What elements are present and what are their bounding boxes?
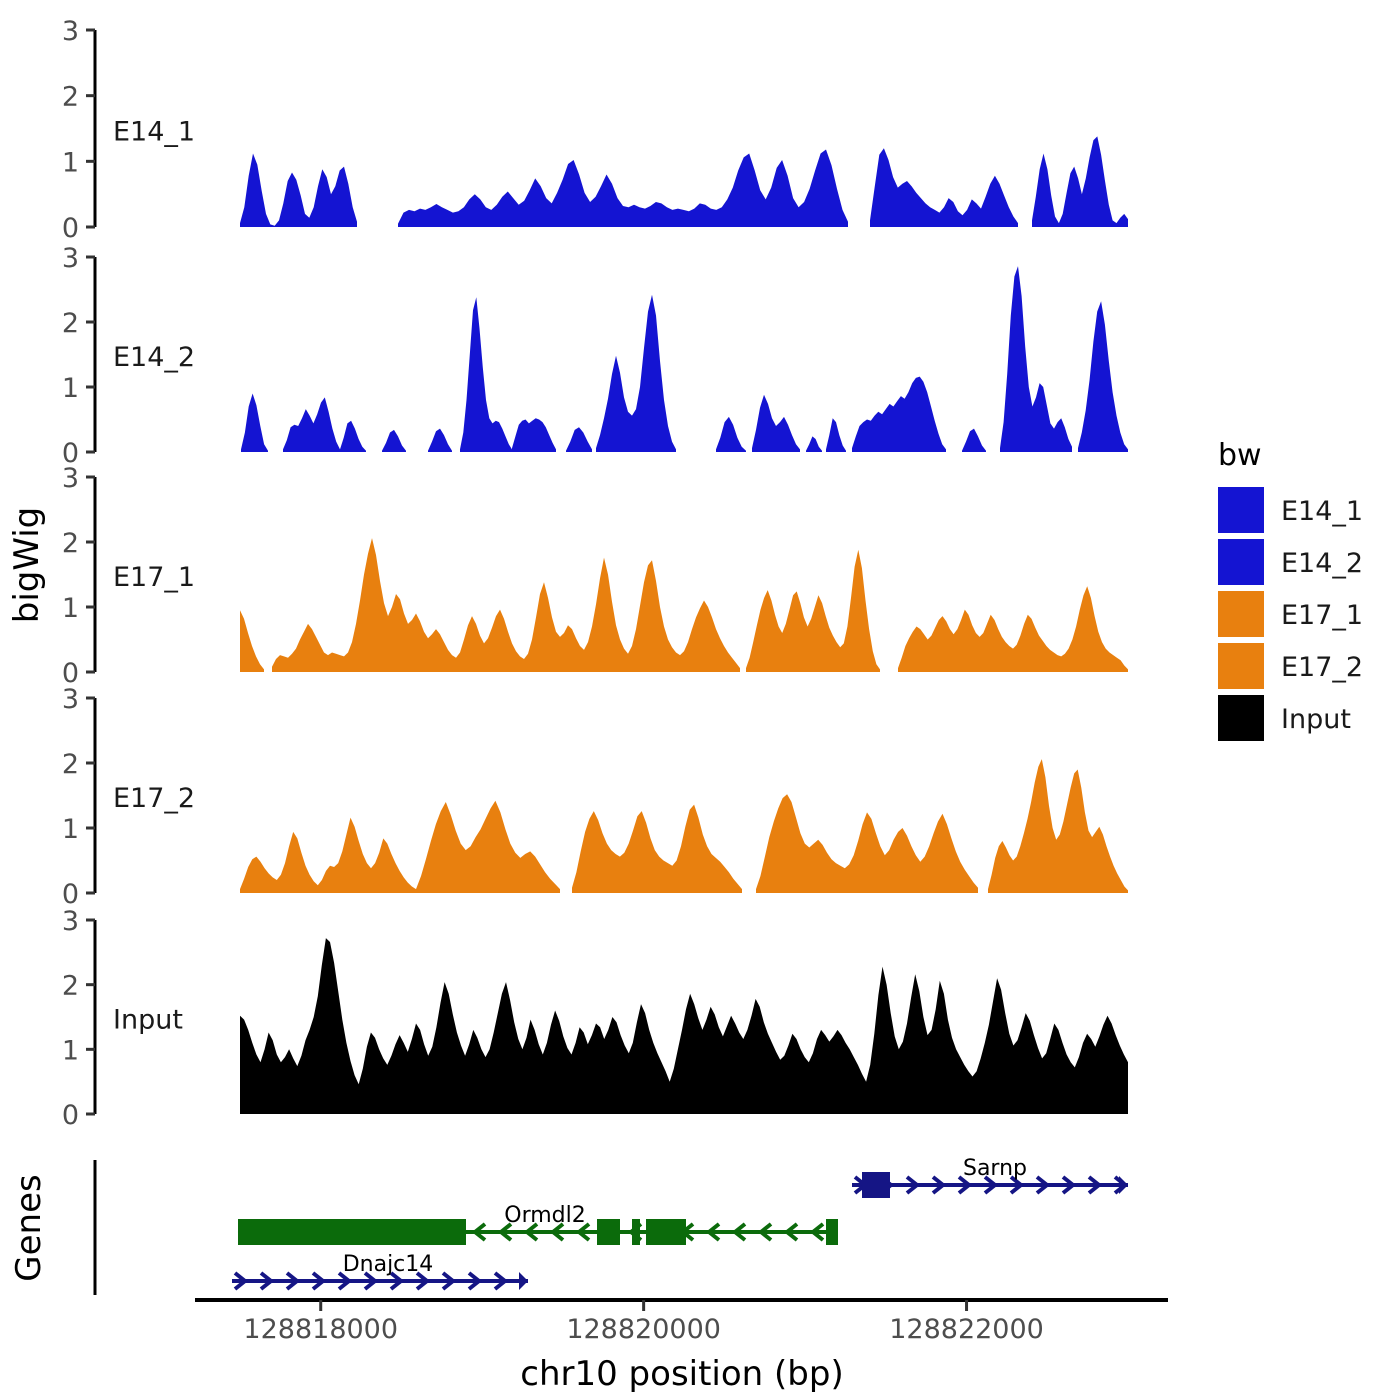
y-tick-label-E14_2-3: 3: [62, 243, 79, 274]
area-E17_2-seg1: [416, 801, 560, 893]
track-label-Input: Input: [113, 1005, 183, 1036]
area-E14_2-seg10: [752, 395, 800, 452]
gene-arrowhead-Sarnp: [1119, 1176, 1128, 1194]
area-E14_2-seg12: [826, 418, 846, 452]
legend-label-E14_1: E14_1: [1281, 496, 1363, 527]
track-label-E14_1: E14_1: [113, 116, 195, 147]
track-panel-E17_2: 0123E17_2: [62, 684, 1128, 910]
track-panel-Input: 0123Input: [62, 906, 1128, 1131]
area-E14_2-seg6: [512, 418, 556, 452]
y-tick-label-Input-1: 1: [62, 1035, 79, 1066]
area-E14_2-seg7: [566, 427, 592, 452]
track-panel-E14_2: 0123E14_2: [62, 243, 1128, 469]
x-tick-label-128818000: 128818000: [243, 1314, 398, 1345]
area-E17_1-seg3: [898, 586, 1128, 672]
y-tick-label-E14_2-2: 2: [62, 308, 79, 339]
area-E14_2-seg0: [241, 394, 268, 453]
legend-swatch-E17_1[interactable]: [1218, 591, 1264, 637]
legend-label-Input: Input: [1281, 704, 1351, 735]
gene-exon-Ormdl2-1: [597, 1219, 620, 1245]
gene-Dnajc14[interactable]: Dnajc14: [232, 1252, 528, 1290]
y-tick-label-E14_1-3: 3: [62, 16, 79, 47]
area-E17_2-seg4: [988, 759, 1128, 893]
x-axis-title: chr10 position (bp): [520, 1354, 843, 1394]
figure-canvas: 0123E14_10123E14_20123E17_10123E17_20123…: [0, 0, 1400, 1400]
legend-swatch-E14_1[interactable]: [1218, 487, 1264, 533]
area-E14_1-seg0: [240, 154, 357, 228]
area-Input-seg0: [240, 938, 1128, 1114]
y-tick-label-E17_1-2: 2: [62, 528, 79, 559]
legend: bwE14_1E14_2E17_1E17_2Input: [1218, 438, 1363, 741]
y-tick-label-Input-3: 3: [62, 906, 79, 937]
y-tick-label-E17_2-3: 3: [62, 684, 79, 715]
y-tick-label-E17_1-3: 3: [62, 463, 79, 494]
x-tick-label-128822000: 128822000: [889, 1314, 1044, 1345]
area-E14_2-seg14: [962, 429, 986, 452]
area-E17_1-seg0: [240, 610, 264, 672]
x-tick-label-128820000: 128820000: [566, 1314, 721, 1345]
area-E14_2-seg2: [340, 421, 366, 452]
gene-label-Ormdl2: Ormdl2: [504, 1203, 585, 1228]
area-E14_1-seg1: [398, 150, 848, 228]
track-label-E14_2: E14_2: [113, 342, 195, 373]
track-panel-E14_1: 0123E14_1: [62, 16, 1128, 244]
gene-exon-Ormdl2-0: [238, 1219, 466, 1245]
x-axis: 128818000128820000128822000: [195, 1300, 1168, 1345]
area-E14_2-seg9: [716, 417, 746, 452]
legend-swatch-E17_2[interactable]: [1218, 643, 1264, 689]
y-tick-label-E17_1-1: 1: [62, 593, 79, 624]
area-E14_2-seg11: [806, 436, 822, 452]
gene-exon-Ormdl2-4: [826, 1219, 838, 1245]
area-E14_2-seg5: [460, 297, 512, 452]
area-E14_2-seg8: [596, 295, 676, 452]
gene-Ormdl2[interactable]: Ormdl2: [238, 1203, 838, 1245]
y-tick-label-Input-2: 2: [62, 971, 79, 1002]
gene-arrowhead-Dnajc14: [519, 1272, 528, 1290]
genome-browser-figure: 0123E14_10123E14_20123E17_10123E17_20123…: [0, 0, 1400, 1400]
track-panel-E17_1: 0123E17_1: [62, 463, 1128, 689]
area-E17_1-seg1: [272, 538, 740, 672]
area-E17_2-seg3: [756, 794, 978, 893]
gene-exon-Ormdl2-2: [632, 1219, 640, 1245]
y-tick-label-E14_1-0: 0: [62, 213, 79, 244]
area-E14_1-seg3: [1032, 136, 1128, 227]
y-tick-label-E14_2-1: 1: [62, 373, 79, 404]
y-tick-label-E17_2-1: 1: [62, 814, 79, 845]
genes-axis-title: Genes: [9, 1174, 49, 1281]
gene-Sarnp[interactable]: Sarnp: [852, 1156, 1128, 1198]
area-E14_2-seg15: [1000, 266, 1072, 452]
track-label-E17_1: E17_1: [113, 562, 195, 593]
area-E17_2-seg2: [572, 805, 742, 893]
gene-exon-Ormdl2-3: [646, 1219, 686, 1245]
legend-label-E17_2: E17_2: [1281, 652, 1363, 683]
area-E17_1-seg2: [746, 550, 880, 672]
y-tick-label-Input-0: 0: [62, 1100, 79, 1131]
legend-label-E14_2: E14_2: [1281, 548, 1363, 579]
gene-label-Dnajc14: Dnajc14: [343, 1252, 434, 1277]
area-E17_2-seg0: [240, 818, 416, 893]
area-E14_2-seg13: [852, 377, 946, 452]
legend-title: bw: [1218, 438, 1262, 473]
legend-swatch-E14_2[interactable]: [1218, 539, 1264, 585]
area-E14_2-seg1: [283, 397, 340, 452]
gene-label-Sarnp: Sarnp: [963, 1156, 1027, 1181]
y-tick-label-E14_1-1: 1: [62, 147, 79, 178]
area-E14_2-seg4: [428, 429, 452, 452]
track-label-E17_2: E17_2: [113, 783, 195, 814]
y-tick-label-E17_2-2: 2: [62, 749, 79, 780]
legend-label-E17_1: E17_1: [1281, 600, 1363, 631]
y-axis-title: bigWig: [7, 507, 47, 624]
gene-exon-Sarnp-0: [862, 1172, 890, 1198]
area-E14_2-seg16: [1078, 301, 1128, 452]
legend-swatch-Input[interactable]: [1218, 695, 1264, 741]
y-tick-label-E14_1-2: 2: [62, 82, 79, 113]
area-E14_1-seg2: [870, 148, 1018, 227]
area-E14_2-seg3: [382, 430, 406, 452]
